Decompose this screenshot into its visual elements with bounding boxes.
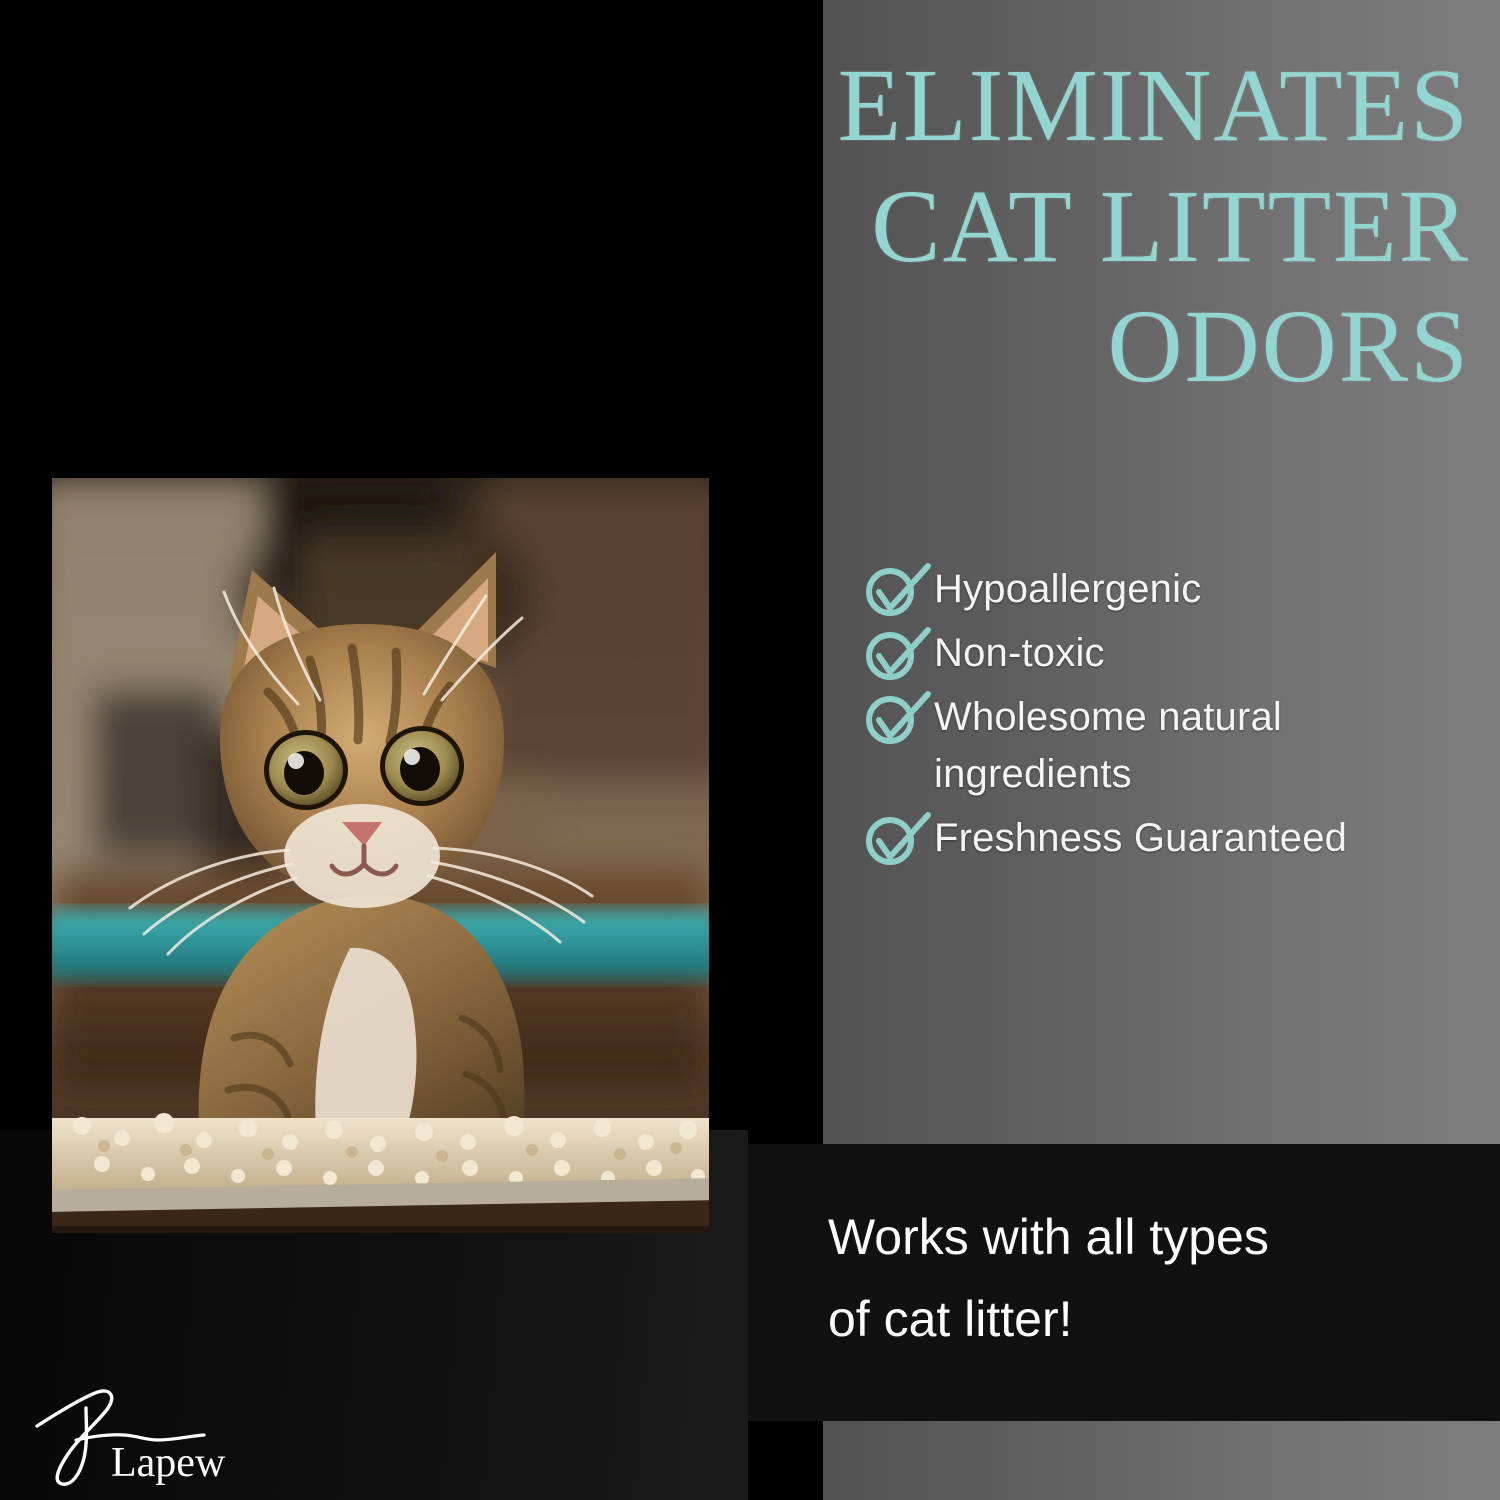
script-l-flourish-icon: Lapew (28, 1378, 318, 1490)
feature-label: Wholesome natural ingredients (934, 688, 1482, 803)
feature-label: Freshness Guaranteed (934, 809, 1347, 867)
feature-label: Non-toxic (934, 624, 1105, 682)
callout-text: Works with all types of cat litter! (828, 1196, 1468, 1360)
feature-label: Hypoallergenic (934, 560, 1201, 618)
callout-box: Works with all types of cat litter! (748, 1144, 1500, 1421)
list-item: Wholesome natural ingredients (862, 688, 1482, 803)
list-item: Non-toxic (862, 624, 1482, 682)
callout-line-1: Works with all types (828, 1196, 1468, 1278)
kitten-litter-box-photo (52, 478, 709, 1233)
product-ad-canvas: ELIMINATES CAT LITTER ODORS (0, 0, 1500, 1500)
headline: ELIMINATES CAT LITTER ODORS (600, 46, 1470, 408)
check-circle-icon (862, 811, 934, 869)
kitten-photo-illustration (52, 478, 709, 1233)
brand-logo: Lapew (28, 1378, 318, 1490)
feature-list: Hypoallergenic Non-toxic Wholesome natur… (862, 560, 1482, 873)
list-item: Hypoallergenic (862, 560, 1482, 618)
headline-line-2: CAT LITTER (600, 167, 1470, 288)
headline-line-1: ELIMINATES (600, 46, 1470, 167)
brand-name: Lapew (111, 1440, 226, 1486)
check-circle-icon (862, 562, 934, 620)
callout-line-2: of cat litter! (828, 1278, 1468, 1360)
check-circle-icon (862, 626, 934, 684)
check-circle-icon (862, 690, 934, 748)
list-item: Freshness Guaranteed (862, 809, 1482, 867)
headline-line-3: ODORS (600, 287, 1470, 408)
